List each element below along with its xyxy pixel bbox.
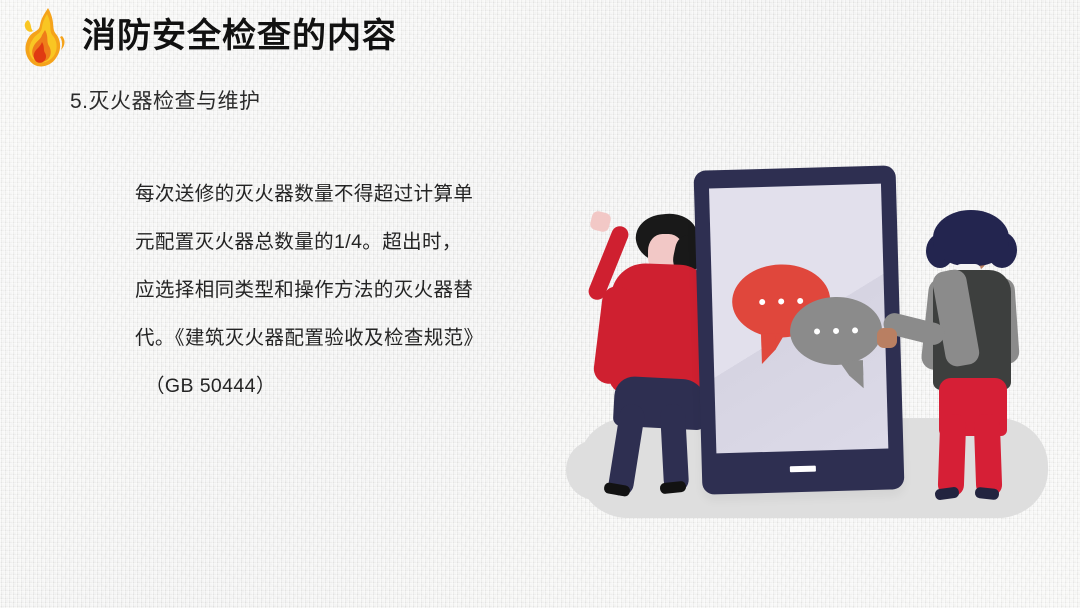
bubble-dots xyxy=(790,327,882,336)
body-line: 每次送修的灭火器数量不得超过计算单 xyxy=(135,170,535,218)
tablet-screen xyxy=(709,184,888,454)
slide: 消防安全检查的内容 5.灭火器检查与维护 每次送修的灭火器数量不得超过计算单 元… xyxy=(0,0,1080,608)
body-line: 代。《建筑灭火器配置验收及检查规范》 xyxy=(135,314,535,362)
shoe-right xyxy=(974,487,999,500)
bubble-tail xyxy=(839,360,864,389)
person-raising-fist xyxy=(578,208,713,496)
section-subtitle: 5.灭火器检查与维护 xyxy=(70,85,261,115)
page-title: 消防安全检查的内容 xyxy=(82,16,397,57)
home-bar[interactable] xyxy=(790,466,816,473)
leg-back xyxy=(660,403,690,492)
shoe-back xyxy=(659,481,686,495)
body-line: 元配置灭火器总数量的1/4。超出时， xyxy=(135,218,535,266)
person-holding-tablet xyxy=(895,208,1035,500)
speech-bubble-gray xyxy=(789,296,883,367)
flame-icon xyxy=(18,6,72,72)
leg-right xyxy=(974,414,1003,497)
body-text-block: 每次送修的灭火器数量不得超过计算单 元配置灭火器总数量的1/4。超出时， 应选择… xyxy=(135,170,535,410)
hair xyxy=(933,210,1009,266)
leg-left xyxy=(938,414,967,497)
tablet-device[interactable] xyxy=(694,165,905,495)
two-people-with-tablet-chat-illustration xyxy=(560,150,1060,570)
shoe-left xyxy=(934,486,959,500)
bubble-tail xyxy=(761,333,786,364)
body-line: 应选择相同类型和操作方法的灭火器替 xyxy=(135,266,535,314)
fist-hand xyxy=(589,210,612,233)
body-line-standard-code: （GB 50444） xyxy=(135,362,535,410)
hand xyxy=(877,328,897,348)
